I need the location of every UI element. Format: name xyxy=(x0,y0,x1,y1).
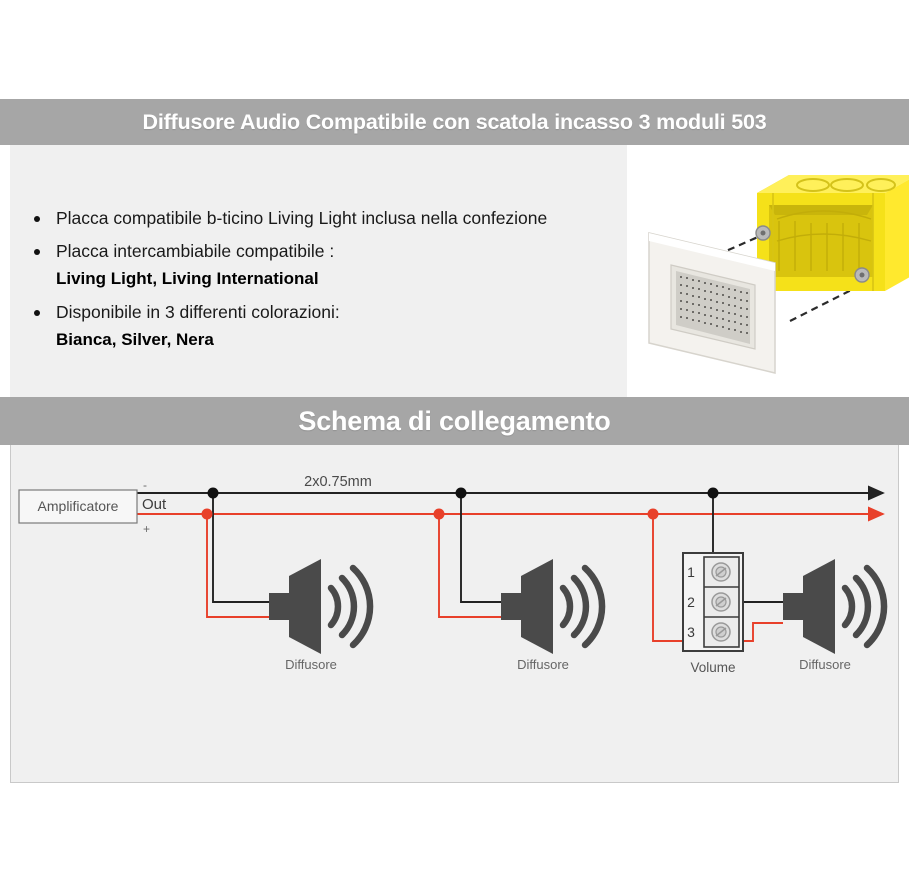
amplifier-label: Amplificatore xyxy=(38,498,119,514)
yellow-wall-box-icon xyxy=(756,175,909,291)
product-illustration xyxy=(627,145,909,397)
screw-terminal-icon xyxy=(712,623,730,641)
node-black-3 xyxy=(708,488,719,499)
list-item: Placca intercambiabile compatibile : Liv… xyxy=(22,238,622,292)
speaker-label: Diffusore xyxy=(799,657,851,672)
product-info-panel: Placca compatibile b-ticino Living Light… xyxy=(10,145,899,397)
product-photo xyxy=(627,145,909,397)
cable-spec-label: 2x0.75mm xyxy=(304,474,372,490)
screw-terminal-icon xyxy=(712,593,730,611)
volume-control[interactable]: 1 2 3 xyxy=(683,553,743,651)
schema-title-bar: Schema di collegamento xyxy=(0,397,909,445)
plus-terminal-label: + xyxy=(143,522,150,536)
volume-label: Volume xyxy=(690,660,735,675)
node-black-1 xyxy=(208,488,219,499)
feature-subtext: Bianca, Silver, Nera xyxy=(56,327,622,353)
feature-subtext: Living Light, Living International xyxy=(56,266,622,292)
speaker-label: Diffusore xyxy=(517,657,569,672)
terminal-number-3: 3 xyxy=(687,624,695,640)
list-item: Disponibile in 3 differenti colorazioni:… xyxy=(22,299,622,353)
product-sheet-page: Diffusore Audio Compatibile con scatola … xyxy=(0,0,909,888)
node-red-2 xyxy=(434,509,445,520)
node-red-1 xyxy=(202,509,213,520)
feature-text: Placca compatibile b-ticino Living Light… xyxy=(56,208,547,228)
feature-text: Disponibile in 3 differenti colorazioni: xyxy=(56,302,340,322)
list-item: Placca compatibile b-ticino Living Light… xyxy=(22,205,622,232)
product-title: Diffusore Audio Compatibile con scatola … xyxy=(143,110,767,135)
node-black-2 xyxy=(456,488,467,499)
feature-text: Placca intercambiabile compatibile : xyxy=(56,241,334,261)
wiring-diagram-panel: Amplificatore Out - + 2x0.75mm Diffusore xyxy=(10,445,899,783)
schema-title: Schema di collegamento xyxy=(298,406,610,437)
terminal-number-1: 1 xyxy=(687,564,695,580)
terminal-number-2: 2 xyxy=(687,594,695,610)
screw-terminal-icon xyxy=(712,563,730,581)
feature-list: Placca compatibile b-ticino Living Light… xyxy=(22,205,622,359)
output-label: Out xyxy=(142,496,167,513)
screw-icon xyxy=(855,268,869,282)
product-title-bar: Diffusore Audio Compatibile con scatola … xyxy=(0,99,909,145)
node-red-3 xyxy=(648,509,659,520)
speaker-label: Diffusore xyxy=(285,657,337,672)
wiring-diagram: Amplificatore Out - + 2x0.75mm Diffusore xyxy=(11,445,898,781)
amplifier-block: Amplificatore xyxy=(19,490,137,523)
minus-terminal-label: - xyxy=(143,478,147,492)
screw-icon xyxy=(756,226,770,240)
